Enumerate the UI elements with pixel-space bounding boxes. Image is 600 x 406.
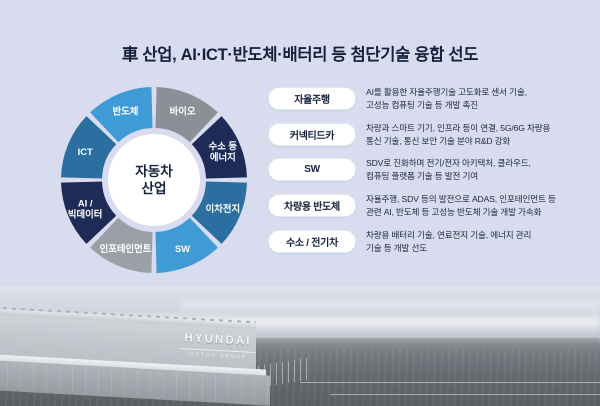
description-line: 기술 등 개발 선도	[366, 242, 531, 255]
technology-pill[interactable]: 자율주행	[268, 87, 356, 110]
donut-segment-label-line1: AI /	[78, 198, 93, 209]
description-line: 고성능 컴퓨팅 기술 등 개발 촉진	[366, 99, 527, 112]
donut-segment-label: ICT	[78, 146, 93, 157]
description-line: 컴퓨팅 플랫폼 기술 등 발전 기여	[366, 170, 531, 183]
background-photo: HYUNDAI MOTOR GROUP	[0, 286, 600, 406]
technology-pill[interactable]: SW	[268, 158, 356, 181]
technology-description: 차량과 스마트 기기, 인프라 등이 연결, 5G/6G 차량용통신 기술, 통…	[366, 122, 550, 148]
description-line: 차량용 배터리 기술, 연료전지 기술, 에너지 관리	[366, 229, 531, 242]
description-line: 관련 AI, 반도체 등 고성능 반도체 기술 개발 가속화	[366, 206, 556, 219]
description-line: 통신 기술, 통신 보안 기술 분야 R&D 강화	[366, 135, 550, 148]
technology-pill[interactable]: 차량용 반도체	[268, 194, 356, 217]
hyundai-logo: HYUNDAI MOTOR GROUP	[178, 333, 258, 361]
technology-description: SDV로 진화하며 전기/전자 아키택처, 클라우드,컴퓨팅 플랫폼 기술 등 …	[366, 157, 531, 183]
infographic-canvas: HYUNDAI MOTOR GROUP 車 산업, AI·ICT·반도체·배터리…	[0, 0, 600, 406]
donut-center-label-line2: 산업	[141, 180, 166, 196]
description-line: AI를 활용한 자율주행기술 고도화로 센서 기술,	[366, 86, 527, 99]
donut-segment-label: 이차전지	[206, 203, 241, 214]
donut-segment-label: 인포테인먼트	[100, 243, 152, 254]
donut-svg: 바이오수소 등에너지이차전지SW인포테인먼트AI /빅데이터ICT반도체 자동차…	[61, 87, 247, 273]
page-title: 車 산업, AI·ICT·반도체·배터리 등 첨단기술 융합 선도	[0, 41, 600, 65]
technology-pill[interactable]: 수소 / 전기차	[268, 230, 356, 253]
donut-segment-label-line1: 수소 등	[209, 140, 238, 151]
technology-row: 차량용 반도체자율주행, SDV 등의 발전으로 ADAS, 인포테인먼트 등관…	[268, 193, 594, 219]
lot-marking	[300, 382, 600, 383]
donut-segment-label: 수소 등에너지	[209, 140, 238, 162]
description-line: 자율주행, SDV 등의 발전으로 ADAS, 인포테인먼트 등	[366, 193, 556, 206]
technology-description: 차량용 배터리 기술, 연료전지 기술, 에너지 관리기술 등 개발 선도	[366, 229, 531, 255]
donut-segment-label: SW	[175, 243, 190, 254]
lot-marking	[330, 394, 600, 395]
technology-pill[interactable]: 커넥티드카	[268, 123, 356, 146]
donut-segment-label-line2: 빅데이터	[68, 209, 103, 220]
description-line: 차량과 스마트 기기, 인프라 등이 연결, 5G/6G 차량용	[366, 122, 550, 135]
technology-row: 수소 / 전기차차량용 배터리 기술, 연료전지 기술, 에너지 관리기술 등 …	[268, 229, 594, 255]
technology-description: AI를 활용한 자율주행기술 고도화로 센서 기술,고성능 컴퓨팅 기술 등 개…	[366, 86, 527, 112]
technology-description: 자율주행, SDV 등의 발전으로 ADAS, 인포테인먼트 등관련 AI, 반…	[366, 193, 556, 219]
donut-segment-label: 바이오	[170, 106, 196, 117]
donut-segment-label-line2: 에너지	[210, 151, 236, 162]
technology-list: 자율주행AI를 활용한 자율주행기술 고도화로 센서 기술,고성능 컴퓨팅 기술…	[268, 86, 594, 264]
description-line: SDV로 진화하며 전기/전자 아키택처, 클라우드,	[366, 157, 531, 170]
logo-wordmark: HYUNDAI	[178, 333, 258, 349]
donut-segment-label: 반도체	[113, 106, 139, 117]
donut-center-disc	[108, 134, 200, 226]
donut-center-label-line1: 자동차	[135, 164, 173, 179]
donut-chart: 바이오수소 등에너지이차전지SW인포테인먼트AI /빅데이터ICT반도체 자동차…	[61, 87, 247, 273]
technology-row: SWSDV로 진화하며 전기/전자 아키택처, 클라우드,컴퓨팅 플랫폼 기술 …	[268, 157, 594, 183]
technology-row: 자율주행AI를 활용한 자율주행기술 고도화로 센서 기술,고성능 컴퓨팅 기술…	[268, 86, 594, 112]
cloud-band-secondary	[180, 300, 600, 312]
technology-row: 커넥티드카차량과 스마트 기기, 인프라 등이 연결, 5G/6G 차량용통신 …	[268, 122, 594, 148]
